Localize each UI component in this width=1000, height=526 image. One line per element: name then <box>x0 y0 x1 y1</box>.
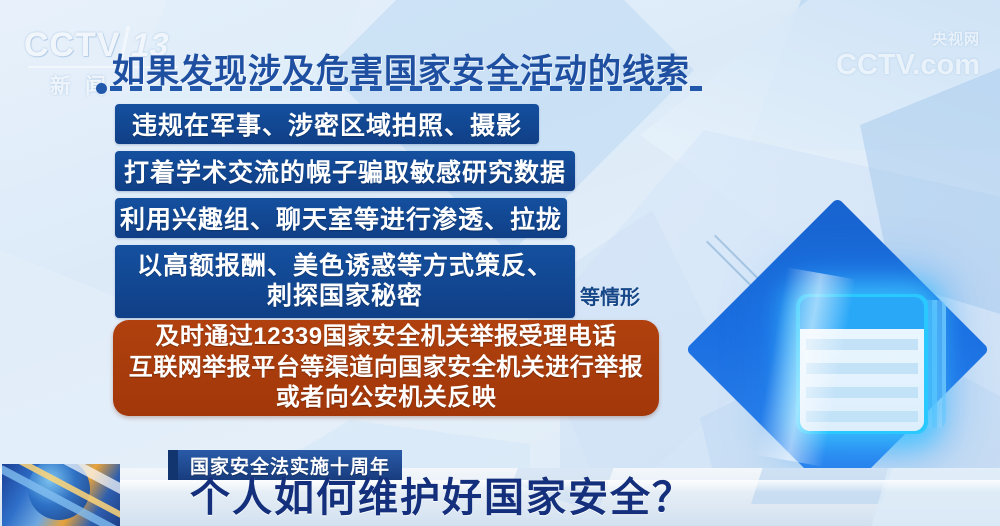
list-item: 以高额报酬、美色诱惑等方式策反、 刺探国家秘密 <box>115 245 575 318</box>
suffix-note: 等情形 <box>580 281 640 310</box>
lower-third-banner: 国家安全法实施十周年 个人如何维护好国家安全？ <box>0 447 1000 526</box>
document-graphic <box>700 232 1000 472</box>
list-item-line-1: 以高额报酬、美色诱惑等方式策反、 <box>137 252 553 282</box>
broadcast-screenshot: CCTV13 新闻 央视网 CCTV.com 如果发现涉及危害国家安全活动的线索… <box>0 0 1000 526</box>
lower-third-title: 个人如何维护好国家安全？ <box>190 465 694 523</box>
kicker-tab <box>168 450 178 480</box>
action-line-2: 互联网举报平台等渠道向国家安全机关进行举报 <box>129 353 644 384</box>
list-item: 利用兴趣组、聊天室等进行渗透、拉拢 <box>115 198 567 238</box>
action-line-3: 或者向公安机关反映 <box>276 383 497 414</box>
action-line-1: 及时通过12339国家安全机关举报受理电话 <box>155 322 616 353</box>
globe-graphic <box>2 464 120 526</box>
action-callout-box: 及时通过12339国家安全机关举报受理电话 互联网举报平台等渠道向国家安全机关进… <box>113 320 659 416</box>
dash-rule-dot <box>96 83 107 94</box>
list-item-line-2: 刺探国家秘密 <box>267 282 423 312</box>
page-title: 如果发现涉及危害国家安全活动的线索 <box>112 44 690 92</box>
lt-shape-3 <box>871 468 1000 526</box>
list-item: 违规在军事、涉密区域拍照、摄影 <box>115 104 539 144</box>
list-item: 打着学术交流的幌子骗取敏感研究数据 <box>115 151 575 191</box>
dash-rule <box>110 86 710 91</box>
